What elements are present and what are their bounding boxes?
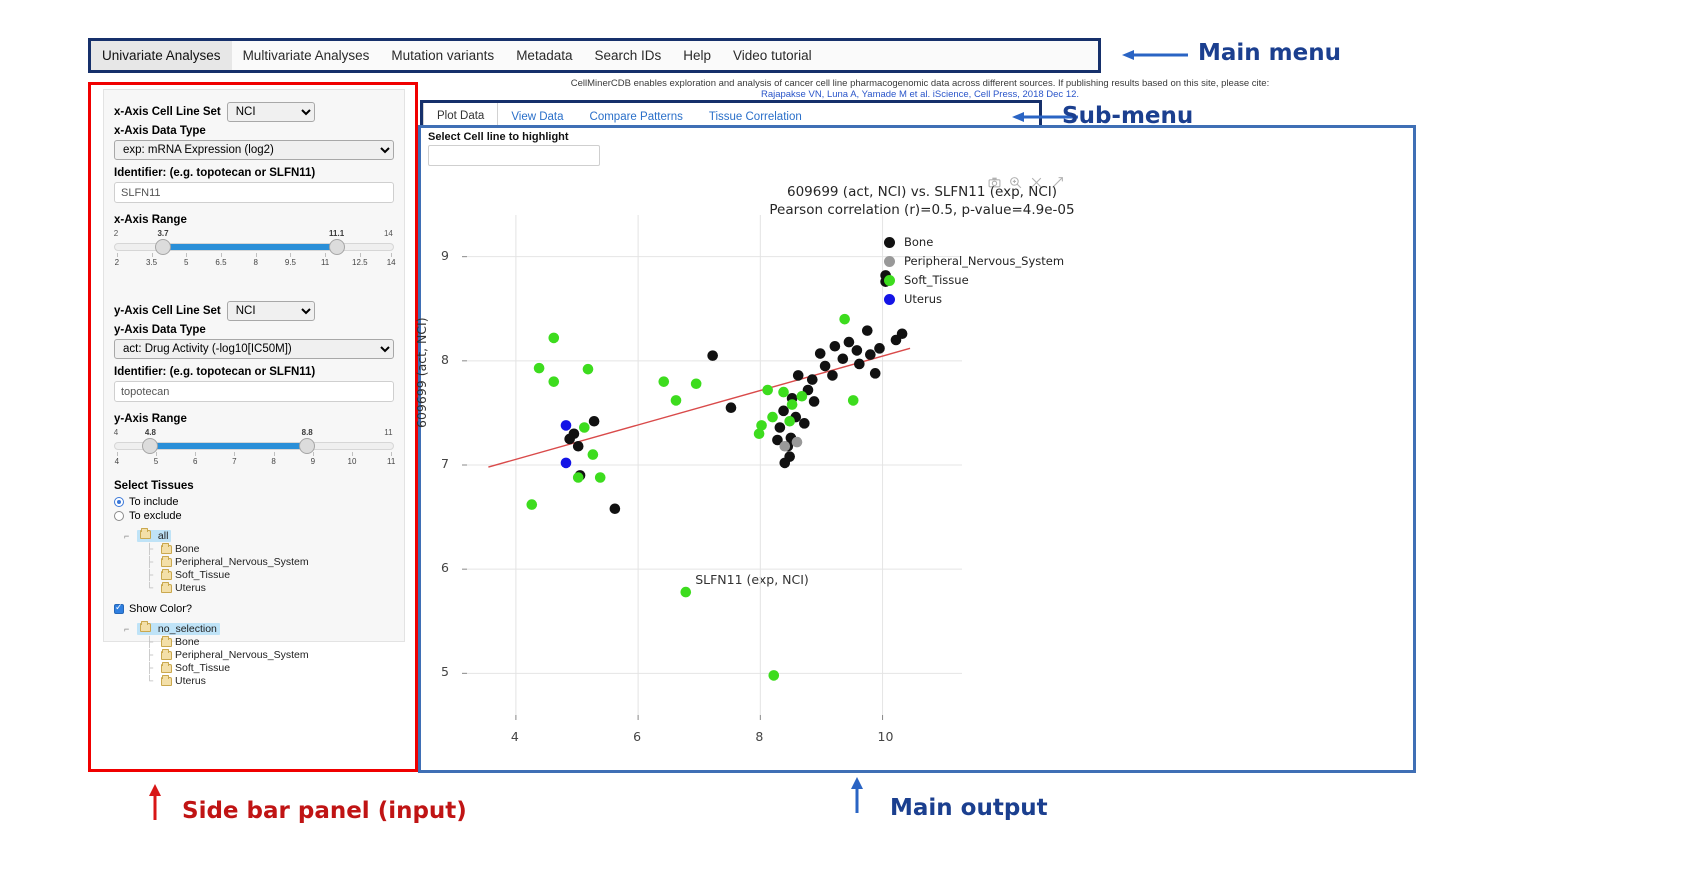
x-axis-slider-ticks: 2 3.5 5 6.5 8 9.5 11 12.5 14: [114, 253, 394, 269]
tree-elbow-icon: ├: [146, 544, 158, 555]
tree-node-label: Uterus: [175, 675, 206, 687]
y-axis-tick-label: 7: [232, 457, 236, 466]
checkbox-icon[interactable]: [114, 604, 124, 614]
menu-item-univariate-analyses[interactable]: Univariate Analyses: [91, 41, 232, 70]
tree-node-label: Uterus: [175, 582, 206, 594]
y-tick-label: 8: [441, 352, 449, 367]
annotation-sidebar: Side bar panel (input): [182, 798, 467, 824]
folder-icon: [161, 571, 172, 580]
y-axis-tick-label: 6: [193, 457, 197, 466]
y-axis-identifier-label: Identifier: (e.g. topotecan or SLFN11): [114, 366, 394, 378]
x-axis-range-label: x-Axis Range: [114, 214, 394, 226]
folder-icon: [161, 677, 172, 686]
x-axis-slider-top-labels: 2 3.7 11.1 14: [114, 229, 394, 241]
scatter-plot: 609699 (act, NCI) vs. SLFN11 (exp, NCI) …: [422, 160, 1412, 770]
sidebar-panel-outline: x-Axis Cell Line Set NCI x-Axis Data Typ…: [88, 82, 418, 772]
y-axis-tick-label: 11: [387, 457, 395, 466]
y-axis-tick-label: 4: [115, 457, 119, 466]
folder-icon: [161, 558, 172, 567]
select-tissues-title: Select Tissues: [114, 480, 394, 492]
x-axis-slider-handle-low-label: 3.7: [157, 229, 168, 238]
tree-node-label: Peripheral_Nervous_System: [175, 649, 309, 661]
tree-elbow-icon: ├: [146, 650, 158, 661]
folder-icon: [140, 623, 151, 632]
annotation-main-menu: Main menu: [1198, 40, 1341, 66]
main-menu-bar: Univariate Analyses Multivariate Analyse…: [88, 38, 1101, 73]
menu-item-multivariate-analyses[interactable]: Multivariate Analyses: [232, 41, 381, 70]
menu-item-help[interactable]: Help: [672, 41, 722, 70]
folder-icon: [161, 584, 172, 593]
tree-node-soft-tissue[interactable]: ├ Soft_Tissue: [146, 569, 394, 581]
x-axis-identifier-label: Identifier: (e.g. topotecan or SLFN11): [114, 167, 394, 179]
x-axis-identifier-input[interactable]: [114, 182, 394, 203]
radio-to-include[interactable]: To include: [114, 496, 394, 508]
legend-color-swatch: [884, 237, 895, 248]
tree-node-uterus[interactable]: └ Uterus: [146, 582, 394, 594]
x-axis-tick-label: 6.5: [215, 258, 226, 267]
y-axis-cell-line-set-select[interactable]: NCI: [227, 301, 315, 321]
x-axis-cell-line-set-label: x-Axis Cell Line Set: [114, 106, 221, 118]
legend-item[interactable]: Peripheral_Nervous_System: [884, 254, 1064, 268]
sidebar-panel: x-Axis Cell Line Set NCI x-Axis Data Typ…: [103, 89, 405, 642]
y-axis-slider-fill: [150, 443, 307, 449]
tissue-tree-include: ⌐ all ├ Bone ├ Peripheral_Nervous_System…: [124, 530, 394, 594]
folder-icon: [161, 638, 172, 647]
y-axis-slider-ticks: 4 5 6 7 8 9 10 11: [114, 452, 394, 468]
tree-color-node-soft-tissue[interactable]: ├ Soft_Tissue: [146, 662, 394, 674]
legend-label: Bone: [904, 235, 933, 249]
x-tick-label: 8: [755, 729, 763, 744]
menu-item-label: Univariate Analyses: [102, 48, 221, 63]
legend-item[interactable]: Soft_Tissue: [884, 273, 969, 287]
menu-item-label: Help: [683, 48, 711, 63]
tree-node-bone[interactable]: ├ Bone: [146, 543, 394, 555]
tab-label: Tissue Correlation: [709, 111, 802, 123]
y-axis-tick-label: 8: [271, 457, 275, 466]
radio-include-label: To include: [129, 496, 179, 508]
tree-elbow-icon: ├: [146, 637, 158, 648]
sidebar-arrow-icon: [143, 782, 167, 822]
x-axis-data-type-label: x-Axis Data Type: [114, 125, 394, 137]
tree-node-no-selection-wrap[interactable]: no_selection: [137, 623, 220, 635]
legend-label: Uterus: [904, 292, 942, 306]
tree-node-peripheral-nervous-system[interactable]: ├ Peripheral_Nervous_System: [146, 556, 394, 568]
main-menu: Univariate Analyses Multivariate Analyse…: [91, 41, 1098, 70]
y-axis-range-label: y-Axis Range: [114, 413, 394, 425]
tree-color-node-uterus[interactable]: └ Uterus: [146, 675, 394, 687]
citation-line-2[interactable]: Rajapakse VN, Luna A, Yamade M et al. iS…: [420, 89, 1420, 100]
y-axis-data-type-select[interactable]: act: Drug Activity (-log10[IC50M]): [114, 339, 394, 359]
tree-node-label: Peripheral_Nervous_System: [175, 556, 309, 568]
folder-icon: [140, 530, 151, 539]
x-axis-tick-label: 8: [253, 258, 257, 267]
y-axis-identifier-input[interactable]: [114, 381, 394, 402]
menu-item-mutation-variants[interactable]: Mutation variants: [380, 41, 505, 70]
x-axis-slider-min-label: 2: [114, 229, 118, 238]
y-axis-cell-line-set-row: y-Axis Cell Line Set NCI: [114, 301, 394, 321]
y-axis-slider-handle-high-label: 8.8: [302, 428, 313, 437]
y-axis-slider-handle-low-label: 4.8: [145, 428, 156, 437]
tree-elbow-icon: ├: [146, 557, 158, 568]
x-axis-cell-line-set-row: x-Axis Cell Line Set NCI: [114, 102, 394, 122]
legend-label: Peripheral_Nervous_System: [904, 254, 1064, 268]
x-tick-label: 4: [511, 729, 519, 744]
tree-node-no-selection[interactable]: ⌐ no_selection: [124, 623, 394, 635]
citation-line-1: CellMinerCDB enables exploration and ana…: [420, 78, 1420, 89]
legend-color-swatch: [884, 275, 895, 286]
x-tick-label: 10: [878, 729, 894, 744]
legend-item[interactable]: Bone: [884, 235, 933, 249]
radio-include-icon[interactable]: [114, 497, 124, 507]
legend-label: Soft_Tissue: [904, 273, 969, 287]
x-axis-range-slider[interactable]: 2 3.7 11.1 14 2 3.5 5 6.5 8 9.5 11 12.5 …: [114, 229, 394, 271]
menu-item-label: Multivariate Analyses: [243, 48, 370, 63]
tree-node-label: Bone: [175, 636, 200, 648]
tree-node-label: Soft_Tissue: [175, 662, 230, 674]
x-axis-data-type-select[interactable]: exp: mRNA Expression (log2): [114, 140, 394, 160]
y-tick-label: 6: [441, 560, 449, 575]
tree-node-label: Soft_Tissue: [175, 569, 230, 581]
menu-item-label: Search IDs: [594, 48, 661, 63]
menu-item-label: Mutation variants: [391, 48, 494, 63]
x-axis-tick-label: 12.5: [352, 258, 368, 267]
main-output-arrow-icon: [845, 775, 869, 815]
x-axis-tick-label: 14: [387, 258, 396, 267]
folder-icon: [161, 651, 172, 660]
annotation-main-output: Main output: [890, 795, 1048, 821]
x-axis-tick-label: 5: [184, 258, 188, 267]
x-axis-slider-handle-high-label: 11.1: [329, 229, 344, 238]
tab-label: Plot Data: [437, 110, 484, 122]
y-tick-label: 7: [441, 456, 449, 471]
tree-elbow-icon: ├: [146, 570, 158, 581]
folder-icon: [161, 545, 172, 554]
x-axis-cell-line-set-select[interactable]: NCI: [227, 102, 315, 122]
main-menu-arrow-icon: [1120, 45, 1190, 65]
y-axis-tick-label: 10: [348, 457, 357, 466]
tab-label: Compare Patterns: [590, 111, 683, 123]
x-axis-tick-label: 11: [321, 258, 329, 267]
tree-elbow-icon: └: [146, 583, 158, 594]
x-tick-label: 6: [633, 729, 641, 744]
menu-item-label: Metadata: [516, 48, 572, 63]
tissue-tree-color: ⌐ no_selection ├ Bone ├ Peripheral_Nervo…: [124, 623, 394, 687]
legend-color-swatch: [884, 256, 895, 267]
tree-node-no-selection-label: no_selection: [158, 623, 217, 635]
y-axis-slider-max-label: 11: [384, 428, 392, 437]
tree-node-label: Bone: [175, 543, 200, 555]
y-tick-label: 5: [441, 664, 449, 679]
y-axis-tick-label: 9: [311, 457, 315, 466]
y-axis-range-slider[interactable]: 4 4.8 8.8 11 4 5 6 7 8 9 10 11: [114, 428, 394, 470]
x-axis-tick-label: 9.5: [285, 258, 296, 267]
tree-elbow-icon: ├: [146, 663, 158, 674]
tree-expand-icon[interactable]: ⌐: [124, 531, 134, 541]
y-axis-cell-line-set-label: y-Axis Cell Line Set: [114, 305, 221, 317]
tab-label: View Data: [511, 111, 563, 123]
tree-elbow-icon: └: [146, 676, 158, 687]
radio-to-exclude[interactable]: To exclude: [114, 510, 394, 522]
folder-icon: [161, 664, 172, 673]
y-tick-label: 9: [441, 248, 449, 263]
citation-block: CellMinerCDB enables exploration and ana…: [420, 78, 1420, 100]
show-color-label: Show Color?: [129, 603, 192, 615]
tree-node-all[interactable]: ⌐ all: [124, 530, 394, 542]
y-axis-slider-top-labels: 4 4.8 8.8 11: [114, 428, 394, 440]
radio-exclude-icon[interactable]: [114, 511, 124, 521]
y-axis-tick-label: 5: [154, 457, 158, 466]
y-axis-slider-min-label: 4: [114, 428, 118, 437]
x-axis-slider-fill: [163, 244, 337, 250]
x-axis-tick-label: 2: [115, 258, 119, 267]
tree-color-node-bone[interactable]: ├ Bone: [146, 636, 394, 648]
highlight-cellline-label: Select Cell line to highlight: [428, 131, 569, 143]
show-color-checkbox-row[interactable]: Show Color?: [114, 603, 394, 615]
menu-item-search-ids[interactable]: Search IDs: [583, 41, 672, 70]
x-axis-slider-max-label: 14: [384, 229, 393, 238]
legend-item[interactable]: Uterus: [884, 292, 942, 306]
menu-item-label: Video tutorial: [733, 48, 812, 63]
radio-exclude-label: To exclude: [129, 510, 182, 522]
tree-node-all-wrap[interactable]: all: [137, 530, 171, 542]
tree-node-all-label: all: [158, 530, 169, 542]
legend-color-swatch: [884, 294, 895, 305]
tree-color-node-peripheral-nervous-system[interactable]: ├ Peripheral_Nervous_System: [146, 649, 394, 661]
tree-expand-icon[interactable]: ⌐: [124, 624, 134, 634]
x-axis-tick-label: 3.5: [146, 258, 157, 267]
y-axis-data-type-label: y-Axis Data Type: [114, 324, 394, 336]
menu-item-video-tutorial[interactable]: Video tutorial: [722, 41, 823, 70]
plot-canvas: [422, 160, 1412, 770]
menu-item-metadata[interactable]: Metadata: [505, 41, 583, 70]
